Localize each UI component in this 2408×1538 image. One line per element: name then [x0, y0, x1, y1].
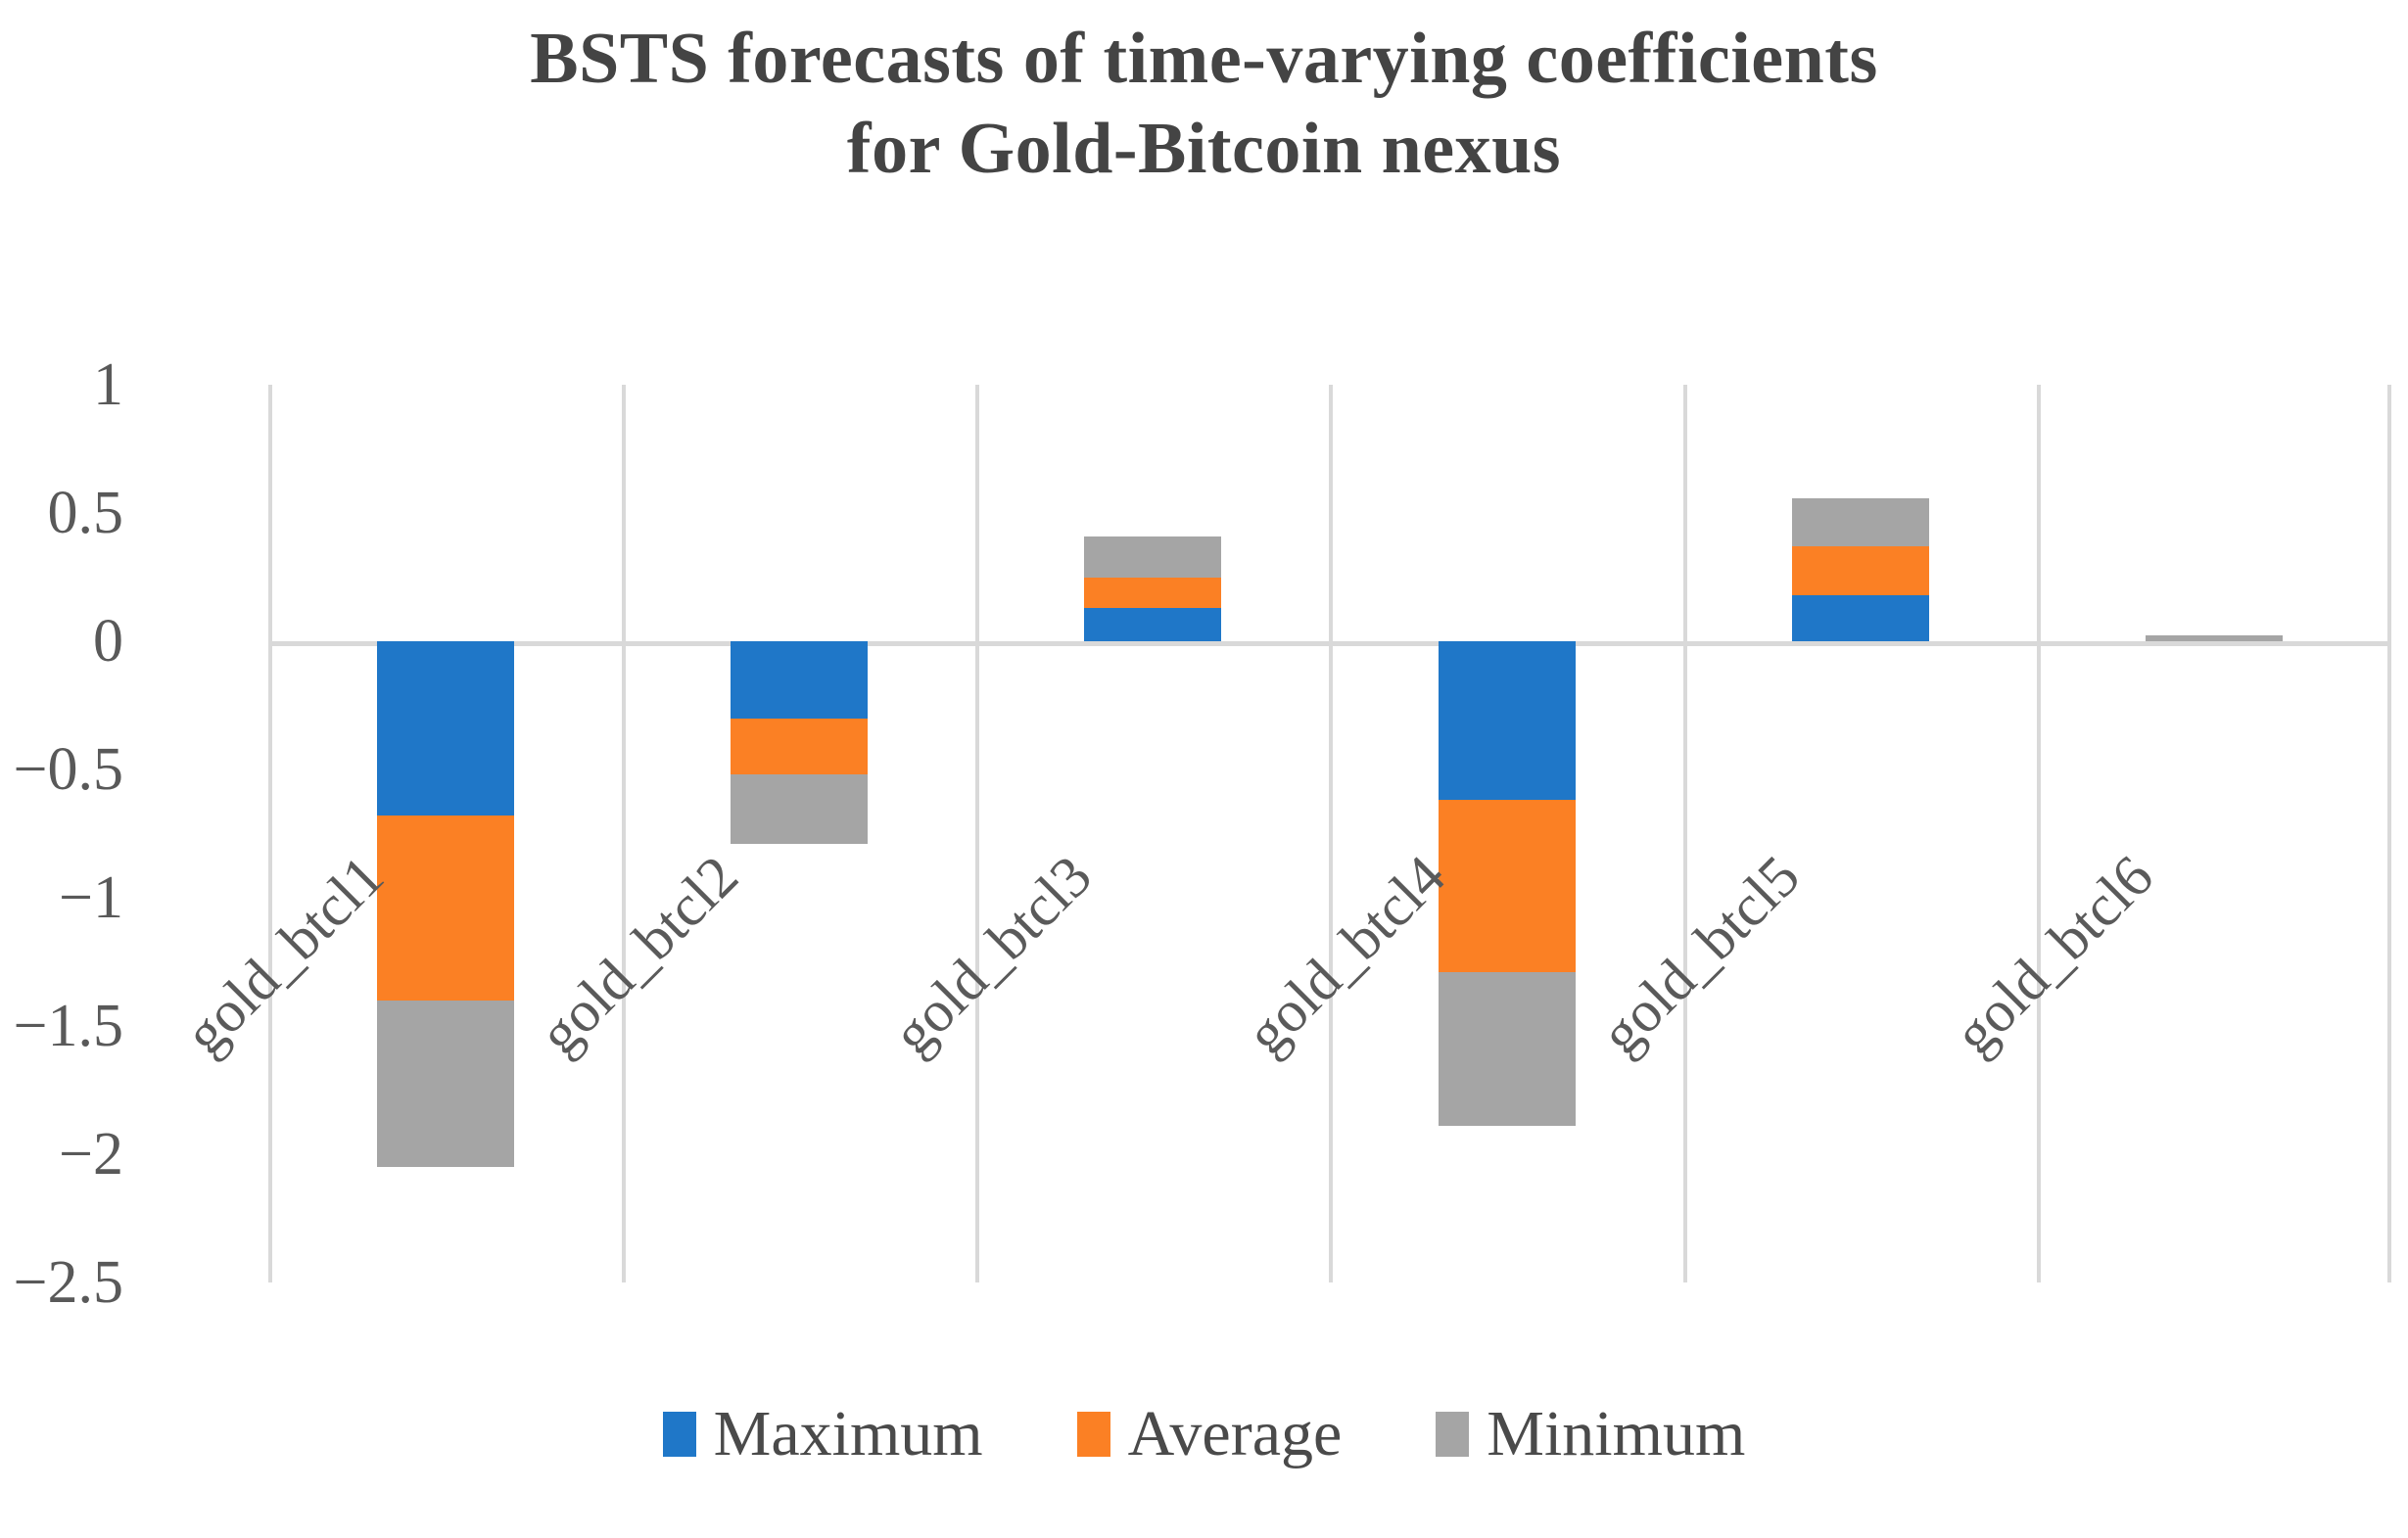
bar-segment-maximum[interactable] [1439, 641, 1576, 800]
bar-segment-maximum[interactable] [731, 641, 868, 719]
bar-segment-minimum[interactable] [377, 1001, 514, 1167]
bar-group-gold_btcl6[interactable] [2146, 385, 2283, 1282]
gridline-vertical [1329, 385, 1333, 1282]
y-tick-label: −2.5 [0, 1252, 123, 1313]
bar-segment-average[interactable] [1792, 546, 1929, 595]
gridline-vertical [1683, 385, 1687, 1282]
bar-segment-average[interactable] [731, 719, 868, 774]
bar-segment-average[interactable] [1439, 800, 1576, 972]
legend-label-maximum: Maximum [714, 1402, 983, 1467]
legend-item-average[interactable]: Average [1077, 1402, 1343, 1467]
legend-label-average: Average [1128, 1402, 1343, 1467]
y-tick-label: 0 [0, 611, 123, 672]
chart-legend: Maximum Average Minimum [0, 1402, 2408, 1467]
legend-swatch-minimum [1436, 1412, 1469, 1457]
bar-group-gold_btcl5[interactable] [1792, 385, 1929, 1282]
gridline-vertical [975, 385, 979, 1282]
bar-segment-minimum[interactable] [1439, 972, 1576, 1126]
bar-segment-maximum[interactable] [1084, 608, 1221, 641]
y-tick-label: −0.5 [0, 739, 123, 800]
y-tick-label: 1 [0, 354, 123, 415]
bar-segment-minimum[interactable] [731, 774, 868, 844]
gridline-vertical [622, 385, 626, 1282]
gridline-vertical [268, 385, 272, 1282]
bar-segment-average[interactable] [1084, 578, 1221, 608]
bar-group-gold_btcl2[interactable] [731, 385, 868, 1282]
legend-swatch-average [1077, 1412, 1110, 1457]
legend-item-maximum[interactable]: Maximum [663, 1402, 983, 1467]
bar-group-gold_btcl1[interactable] [377, 385, 514, 1282]
bar-segment-maximum[interactable] [377, 641, 514, 816]
bar-segment-minimum[interactable] [2146, 635, 2283, 641]
bar-segment-maximum[interactable] [1792, 595, 1929, 641]
chart-title: BSTS forecasts of time-varying coefficie… [0, 14, 2408, 194]
chart-title-line-1: BSTS forecasts of time-varying coefficie… [0, 14, 2408, 104]
legend-label-minimum: Minimum [1487, 1402, 1745, 1467]
gridline-vertical [2037, 385, 2041, 1282]
y-tick-label: −2 [0, 1124, 123, 1185]
legend-item-minimum[interactable]: Minimum [1436, 1402, 1745, 1467]
bar-group-gold_btcl3[interactable] [1084, 385, 1221, 1282]
plot-area [268, 385, 2391, 1282]
legend-swatch-maximum [663, 1412, 696, 1457]
gridline-vertical [2387, 385, 2391, 1282]
bar-group-gold_btcl4[interactable] [1439, 385, 1576, 1282]
bar-segment-average[interactable] [377, 816, 514, 1001]
chart-title-line-2: for Gold-Bitcoin nexus [0, 104, 2408, 194]
y-tick-label: −1 [0, 867, 123, 928]
y-tick-label: 0.5 [0, 483, 123, 543]
axis-zero-line [268, 641, 2391, 646]
bar-segment-minimum[interactable] [1084, 536, 1221, 578]
y-tick-label: −1.5 [0, 996, 123, 1056]
bar-segment-minimum[interactable] [1792, 498, 1929, 546]
